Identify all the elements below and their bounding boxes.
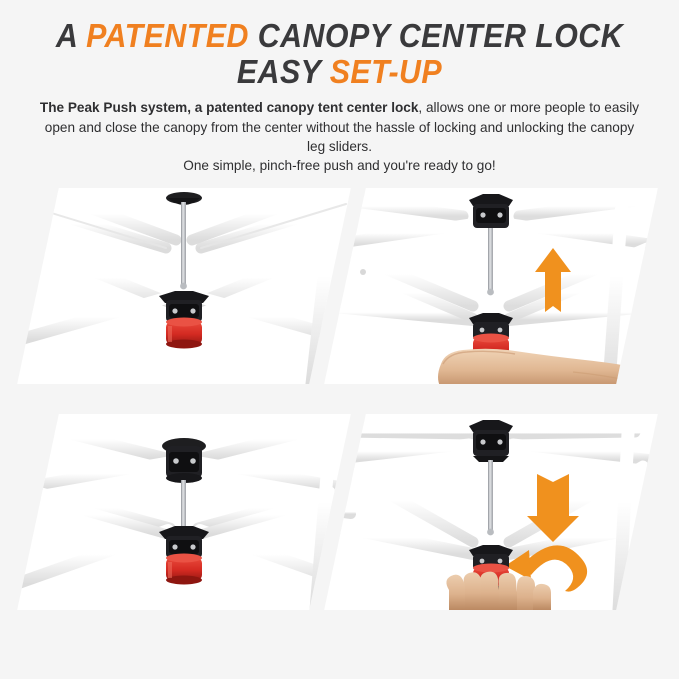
hand-grip-right [499, 573, 551, 610]
hand-grip-left [446, 572, 499, 610]
panel-grid [0, 178, 679, 648]
canopy-frame-closed-illustration [17, 188, 351, 384]
description-bold-lead: The Peak Push system, a patented canopy … [40, 100, 419, 115]
headline-text-a: A [56, 17, 86, 54]
headline-block: A PATENTED CANOPY CENTER LOCK EASY SET-U… [0, 0, 679, 89]
top-lock-hub [469, 420, 513, 462]
center-rod [488, 460, 493, 530]
headline-line-1: A PATENTED CANOPY CENTER LOCK [27, 18, 652, 54]
panel-open-locked [17, 414, 351, 610]
red-slider [166, 554, 202, 585]
panel-closed-canopy-content [38, 188, 330, 384]
headline-text-easy: EASY [237, 53, 330, 90]
description-closing-line: One simple, pinch-free push and you're r… [40, 156, 640, 175]
top-lock-hub [469, 194, 513, 228]
center-rod [488, 228, 493, 290]
panel-push-up [324, 188, 658, 384]
panel-open-locked-content [38, 414, 330, 610]
top-lock-hub [162, 438, 206, 483]
red-slider [166, 318, 202, 349]
description-paragraph: The Peak Push system, a patented canopy … [40, 98, 640, 175]
headline-text-canopy-center-lock: CANOPY CENTER LOCK [249, 17, 623, 54]
canopy-frame-open-locked-illustration [17, 414, 351, 610]
headline-accent-patented: PATENTED [86, 17, 249, 54]
center-rod [181, 202, 186, 284]
panel-closed-canopy [17, 188, 351, 384]
center-rod [181, 480, 186, 532]
headline-accent-setup: SET-UP [330, 53, 442, 90]
canopy-frame-push-up-illustration [324, 188, 658, 384]
panel-push-down [324, 414, 658, 610]
panel-push-up-content [345, 188, 637, 384]
headline-line-2: EASY SET-UP [27, 54, 652, 90]
panel-push-down-content [345, 414, 637, 610]
canopy-frame-push-down-illustration [324, 414, 658, 610]
